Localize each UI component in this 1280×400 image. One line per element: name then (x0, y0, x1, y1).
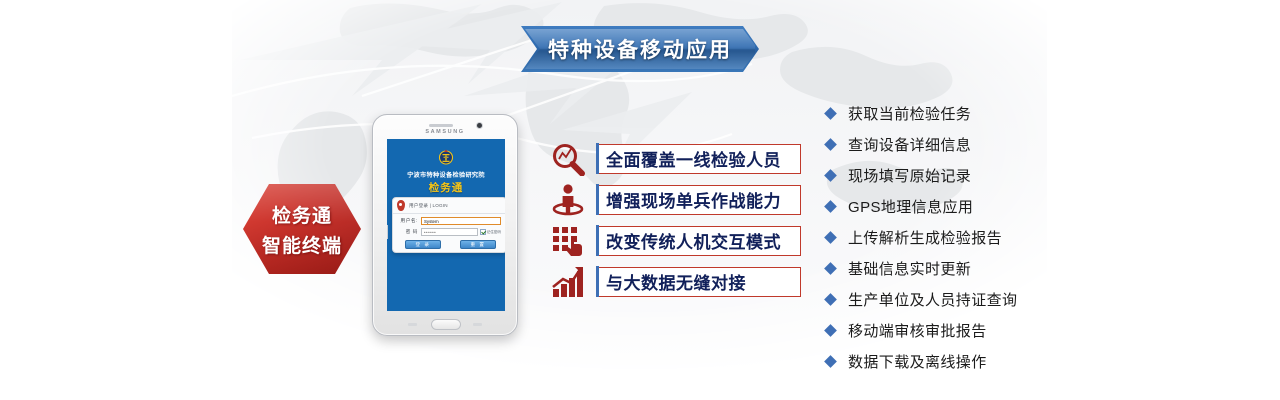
feature-row: 增强现场单兵作战能力 (548, 179, 801, 220)
remember-password-label: 记住密码 (487, 230, 501, 235)
list-item: 数据下载及离线操作 (826, 346, 1056, 377)
login-button-row: 登 录 重 置 (405, 240, 496, 249)
feature-box: 增强现场单兵作战能力 (598, 185, 801, 215)
product-badge: 检务通 智能终端 (243, 184, 361, 274)
capability-list: 获取当前检验任务 查询设备详细信息 现场填写原始记录 GPS地理信息应用 上传解… (826, 98, 1056, 377)
badge-line-2: 智能终端 (262, 231, 342, 258)
diamond-bullet-icon (824, 107, 837, 120)
list-item-label: 获取当前检验任务 (848, 103, 971, 124)
tablet-screen: 宁波市特种设备检验研究院 检务通 用户登录 | LOGIN 用户名: Syste… (387, 139, 505, 311)
feature-box: 与大数据无缝对接 (598, 267, 801, 297)
list-item-label: 上传解析生成检验报告 (848, 227, 1002, 248)
diamond-bullet-icon (824, 169, 837, 182)
password-input[interactable]: •••••• (421, 228, 478, 236)
list-item: 获取当前检验任务 (826, 98, 1056, 129)
list-item: 查询设备详细信息 (826, 129, 1056, 160)
feature-list: 全面覆盖一线检验人员 增强现场单兵作战能力 (548, 138, 801, 302)
home-button[interactable] (431, 319, 461, 330)
diamond-bullet-icon (824, 138, 837, 151)
login-card: 用户登录 | LOGIN 用户名: System 密 码 •••••• 记住密码… (392, 197, 505, 253)
password-label: 密 码 (399, 229, 418, 235)
device-brand-label: SAMSUNG (373, 129, 517, 135)
password-row: 密 码 •••••• 记住密码 (399, 228, 501, 236)
screen-app-name: 检务通 (387, 180, 505, 195)
list-item: 基础信息实时更新 (826, 253, 1056, 284)
badge-line-1: 检务通 (272, 201, 332, 228)
feature-row: 改变传统人机交互模式 (548, 220, 801, 261)
list-item-label: GPS地理信息应用 (848, 196, 973, 217)
feature-box: 改变传统人机交互模式 (598, 226, 801, 256)
feature-row: 全面覆盖一线检验人员 (548, 138, 801, 179)
user-badge-icon (397, 200, 405, 211)
list-item: 移动端审核审批报告 (826, 315, 1056, 346)
list-item: GPS地理信息应用 (826, 191, 1056, 222)
title-banner: 特种设备移动应用 (521, 26, 759, 72)
slide-canvas: 特种设备移动应用 检务通 智能终端 SAMSUNG 宁波市特种设备检验研究院 检… (0, 0, 1280, 400)
feature-label: 改变传统人机交互模式 (599, 228, 781, 253)
username-label: 用户名: (399, 218, 418, 224)
list-item-label: 生产单位及人员持证查询 (848, 289, 1017, 310)
list-item: 上传解析生成检验报告 (826, 222, 1056, 253)
diamond-bullet-icon (824, 355, 837, 368)
list-item-label: 查询设备详细信息 (848, 134, 971, 155)
touch-keypad-icon (548, 222, 588, 260)
person-location-icon (548, 181, 588, 219)
menu-soft-key-icon[interactable] (408, 323, 417, 326)
diamond-bullet-icon (824, 231, 837, 244)
bar-chart-arrow-icon (548, 263, 588, 301)
feature-box: 全面覆盖一线检验人员 (598, 144, 801, 174)
reset-button[interactable]: 重 置 (460, 240, 496, 249)
screen-side-tab[interactable]: › (387, 225, 388, 239)
diamond-bullet-icon (824, 262, 837, 275)
list-item: 现场填写原始记录 (826, 160, 1056, 191)
banner-title: 特种设备移动应用 (521, 26, 759, 72)
login-card-header: 用户登录 | LOGIN (393, 198, 505, 214)
list-item-label: 基础信息实时更新 (848, 258, 971, 279)
remember-password-checkbox[interactable] (480, 229, 486, 235)
list-item-label: 现场填写原始记录 (848, 165, 971, 186)
institute-emblem-icon (436, 147, 456, 167)
front-camera-icon (477, 123, 482, 128)
badge-text: 检务通 智能终端 (243, 184, 361, 274)
feature-row: 与大数据无缝对接 (548, 261, 801, 302)
username-row: 用户名: System (399, 217, 501, 225)
tablet-device: SAMSUNG 宁波市特种设备检验研究院 检务通 用户登录 | LOGIN 用户 (372, 114, 518, 336)
list-item-label: 数据下载及离线操作 (848, 351, 987, 372)
speaker-grill-icon (429, 124, 453, 127)
magnifier-chart-icon (548, 140, 588, 178)
diamond-bullet-icon (824, 200, 837, 213)
username-input[interactable]: System (421, 217, 501, 225)
feature-label: 与大数据无缝对接 (599, 269, 746, 294)
back-soft-key-icon[interactable] (473, 323, 482, 326)
diamond-bullet-icon (824, 324, 837, 337)
list-item: 生产单位及人员持证查询 (826, 284, 1056, 315)
screen-org-name: 宁波市特种设备检验研究院 (387, 170, 505, 179)
feature-label: 全面覆盖一线检验人员 (599, 146, 781, 171)
list-item-label: 移动端审核审批报告 (848, 320, 987, 341)
feature-label: 增强现场单兵作战能力 (599, 187, 781, 212)
diamond-bullet-icon (824, 293, 837, 306)
login-panel-title: 用户登录 | LOGIN (409, 203, 448, 209)
login-button[interactable]: 登 录 (405, 240, 441, 249)
